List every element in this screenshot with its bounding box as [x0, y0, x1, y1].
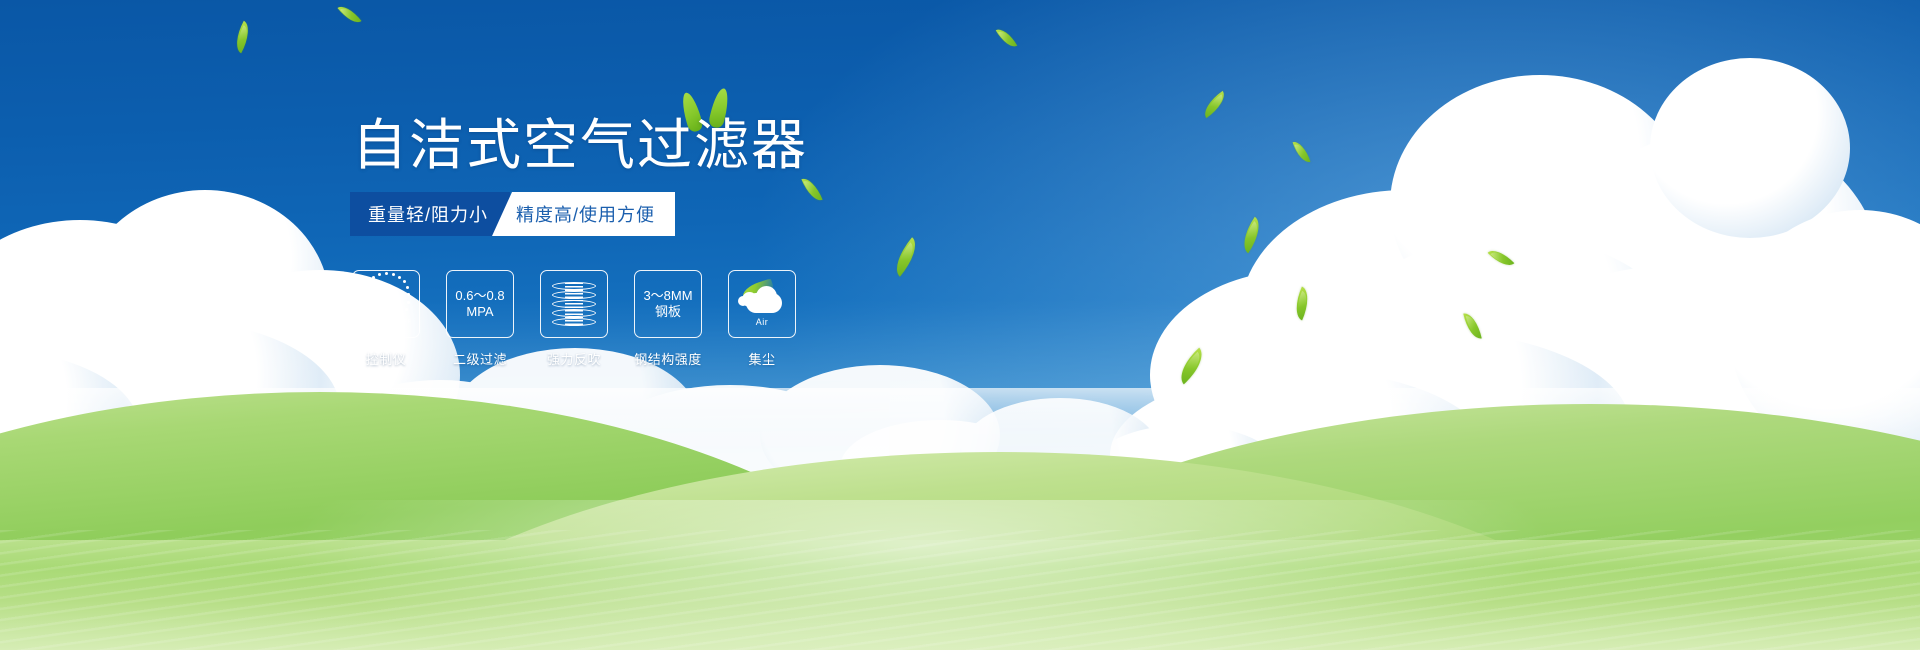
feature-item-steel-strength: 3～8MM 钢板 钢结构强度	[634, 270, 702, 368]
feature-item-two-stage-filter: 0.6～0.8 MPA 二级过滤	[446, 270, 514, 368]
gauge-on-label: NO	[360, 299, 368, 305]
page-title: 自洁式空气过滤器	[352, 118, 808, 173]
feature-label: 钢结构强度	[634, 349, 702, 368]
tag-high-precision-easy-use: 精度高/使用方便	[492, 192, 675, 236]
air-cloud-icon: Air	[738, 283, 786, 325]
feature-label: 集尘	[748, 349, 775, 368]
coil-ring	[552, 282, 596, 290]
gauge-off-label: OFF	[400, 319, 411, 325]
air-caption: Air	[738, 317, 786, 327]
cloud-bump	[738, 296, 748, 306]
feature-label: 控制仪	[366, 349, 407, 368]
coil-ring	[552, 300, 596, 308]
gauge-icon: NO OFF	[359, 280, 413, 328]
coil-blowback-icon	[552, 281, 596, 327]
coil-ring	[552, 291, 596, 299]
tag-lightweight-low-resistance: 重量轻/阻力小	[350, 192, 510, 236]
product-hero-banner: 自洁式空气过滤器 重量轻/阻力小 精度高/使用方便	[0, 0, 1920, 650]
pressure-unit-value: MPA	[455, 304, 504, 320]
coil-ring	[552, 309, 596, 317]
tag-label: 重量轻/阻力小	[368, 201, 488, 227]
feature-icon-box	[540, 270, 608, 338]
feature-item-controller: NO OFF 控制仪	[352, 270, 420, 368]
banner-content: 自洁式空气过滤器 重量轻/阻力小 精度高/使用方便	[0, 0, 1920, 650]
feature-icon-row: NO OFF 控制仪 0.6～0.8 MPA 二级过滤	[352, 270, 796, 368]
feature-label: 强力反吹	[547, 349, 601, 368]
feature-tag-row: 重量轻/阻力小 精度高/使用方便	[350, 192, 675, 236]
pressure-range-value: 0.6～0.8	[455, 288, 504, 303]
feature-icon-box: Air	[728, 270, 796, 338]
gauge-needle-icon	[382, 287, 390, 320]
feature-item-strong-blowback: 强力反吹	[540, 270, 608, 368]
steel-thickness-value: 3～8MM	[643, 288, 692, 303]
feature-icon-box: 3～8MM 钢板	[634, 270, 702, 338]
feature-item-dust-collection: Air 集尘	[728, 270, 796, 368]
feature-icon-box: 0.6～0.8 MPA	[446, 270, 514, 338]
coil-ring	[552, 318, 596, 326]
feature-label: 二级过滤	[453, 349, 507, 368]
pressure-text-icon: 0.6～0.8 MPA	[455, 288, 504, 321]
steel-material-value: 钢板	[643, 304, 692, 320]
feature-icon-box: NO OFF	[352, 270, 420, 338]
steel-plate-text-icon: 3～8MM 钢板	[643, 288, 692, 321]
tag-label: 精度高/使用方便	[516, 201, 655, 227]
cloud-bump	[756, 286, 777, 307]
